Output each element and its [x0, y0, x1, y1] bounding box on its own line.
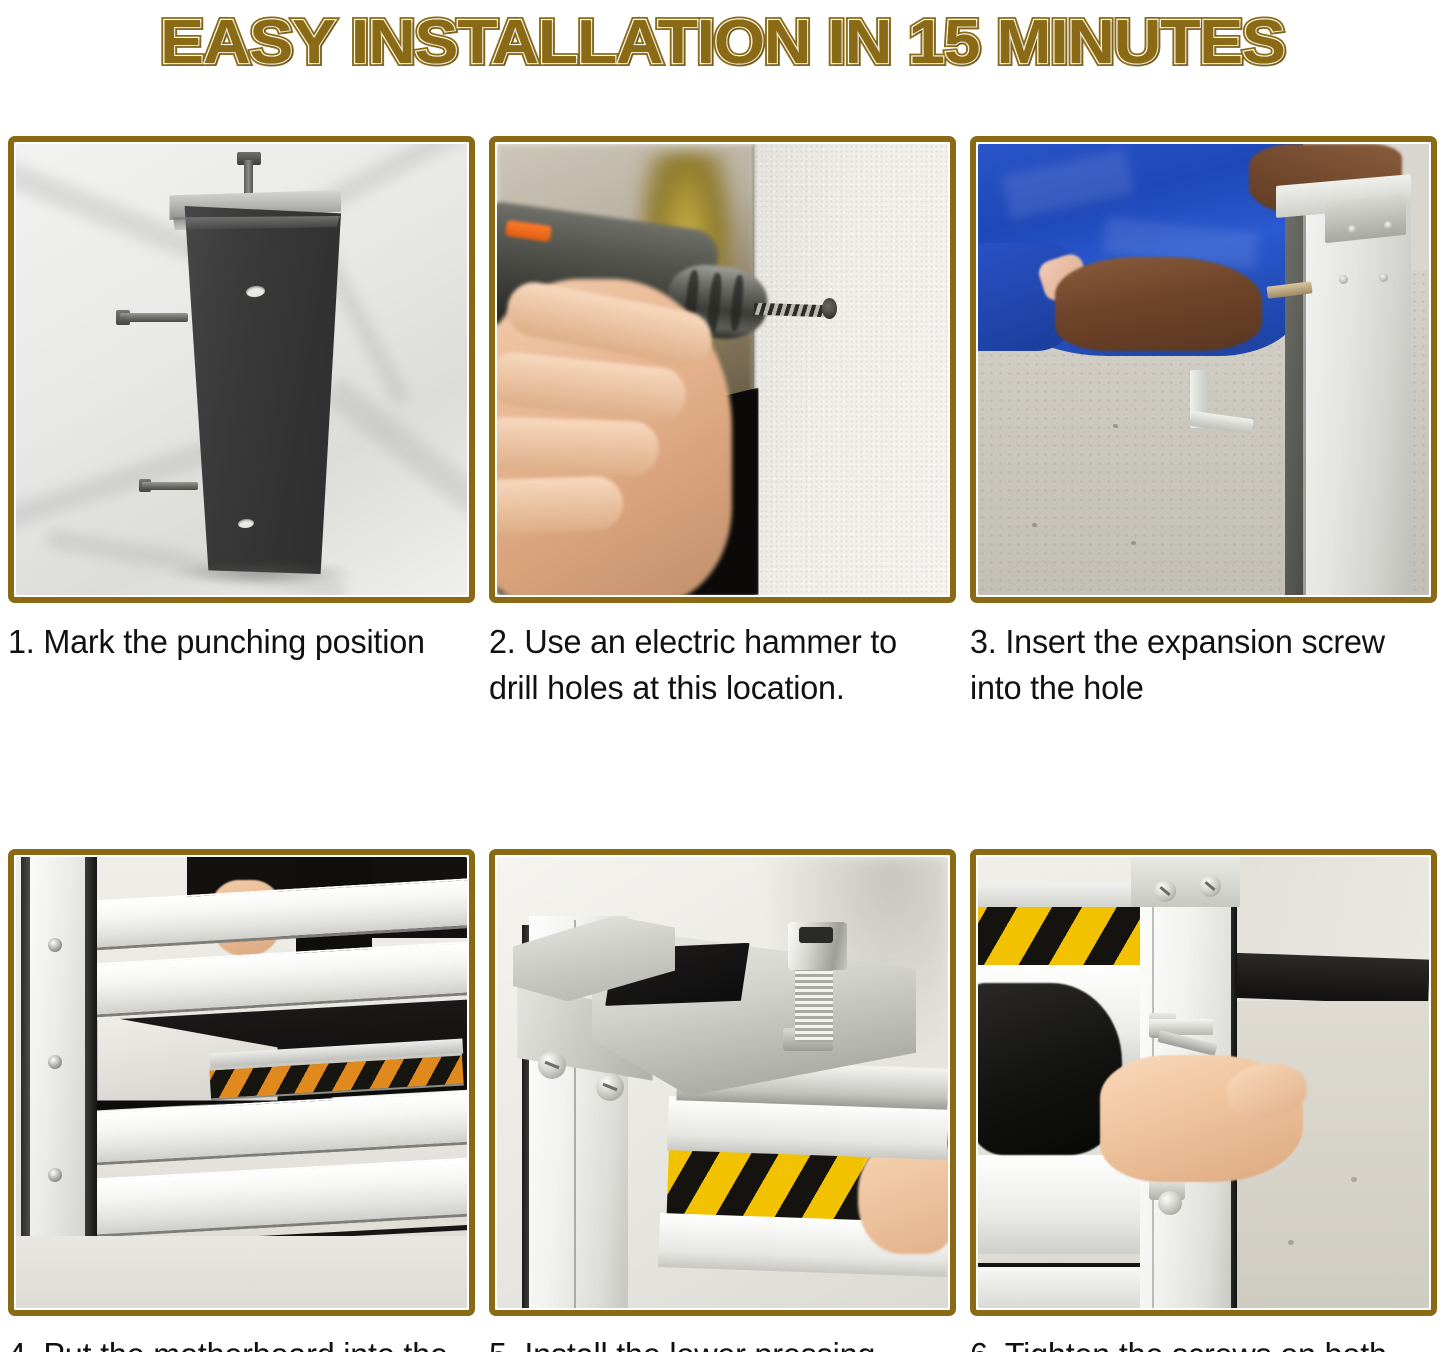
- step-card-5: 5. Install the lower pressing parts on b…: [489, 849, 956, 1352]
- aluminum-column: [1303, 189, 1411, 595]
- step-caption-2: 2. Use an electric hammer to drill holes…: [489, 619, 947, 711]
- photo-frame-6: [970, 849, 1437, 1316]
- column-screw: [48, 938, 62, 952]
- steps-row-top: 1. Mark the punching position: [8, 136, 1437, 711]
- photo-insert-expansion-screw: [978, 144, 1429, 595]
- step-caption-1: 1. Mark the punching position: [8, 619, 466, 665]
- drill-bit-tip: [822, 298, 837, 319]
- step-caption-4: 4. Put the motherboard into the card slo…: [8, 1332, 466, 1352]
- column-screw: [48, 1168, 62, 1182]
- anchor-bolt-upper: [120, 313, 188, 322]
- step-card-4: 4. Put the motherboard into the card slo…: [8, 849, 475, 1352]
- bracket-screw: [538, 1051, 566, 1079]
- column-screw: [48, 1055, 62, 1069]
- threaded-rod: [244, 160, 253, 198]
- page-title: EASY INSTALLATION IN 15 MINUTES: [160, 10, 1285, 76]
- wall-surface: [754, 144, 948, 595]
- column-screw-top-right: [1199, 875, 1221, 897]
- screw: [1379, 273, 1388, 282]
- column-screw-top-left: [1154, 880, 1176, 902]
- step-card-2: 2. Use an electric hammer to drill holes…: [489, 136, 956, 711]
- steps-row-bottom: 4. Put the motherboard into the card slo…: [8, 849, 1437, 1352]
- hex-bolt-socket: [799, 927, 833, 943]
- column-top-plate: [1131, 857, 1239, 907]
- floor: [16, 1236, 467, 1308]
- hazard-stripe-board: [978, 907, 1145, 970]
- step-card-1: 1. Mark the punching position: [8, 136, 475, 711]
- screw: [1339, 275, 1348, 284]
- step-card-6: 6. Tighten the screws on both sides of t…: [970, 849, 1437, 1352]
- floor-speck: [1032, 523, 1037, 527]
- screw: [1348, 225, 1357, 234]
- hex-bolt-thread: [795, 965, 833, 1042]
- column-body: [171, 206, 341, 574]
- baseboard: [1221, 953, 1429, 1005]
- step-caption-3: 3. Insert the expansion screw into the h…: [970, 619, 1428, 711]
- photo-frame-5: [489, 849, 956, 1316]
- barrier-board-bottom: [978, 1263, 1145, 1308]
- steps-grid: 1. Mark the punching position: [8, 136, 1437, 1352]
- installation-guide-page: EASY INSTALLATION IN 15 MINUTES: [0, 0, 1445, 1352]
- page-title-bar: EASY INSTALLATION IN 15 MINUTES: [0, 2, 1445, 84]
- column-ground-shadow: [166, 564, 356, 586]
- photo-frame-3: [970, 136, 1437, 603]
- photo-insert-boards-card-slot: [16, 857, 467, 1308]
- step-caption-5: 5. Install the lower pressing parts on b…: [489, 1332, 947, 1352]
- photo-tighten-column-screws: [978, 857, 1429, 1308]
- aluminum-column: [30, 857, 89, 1245]
- floor-speck: [1288, 1240, 1294, 1245]
- finger: [497, 416, 660, 476]
- floor-speck: [1113, 424, 1118, 428]
- photo-frame-2: [489, 136, 956, 603]
- column-screw-lower: [1158, 1191, 1182, 1215]
- photo-install-pressing-parts: [497, 857, 948, 1308]
- anchor-bolt-lower: [142, 482, 198, 490]
- step-caption-6: 6. Tighten the screws on both sides of t…: [970, 1332, 1428, 1352]
- floor-speck: [1351, 1177, 1357, 1182]
- photo-drill-holes: [497, 144, 948, 595]
- forearm: [1055, 257, 1262, 352]
- photo-frame-1: [8, 136, 475, 603]
- column-right-edge: [85, 857, 97, 1245]
- step-card-3: 3. Insert the expansion screw into the h…: [970, 136, 1437, 711]
- column-left-edge: [21, 857, 30, 1236]
- finger: [497, 475, 624, 534]
- photo-frame-4: [8, 849, 475, 1316]
- photo-mark-punching-position: [16, 144, 467, 595]
- screw: [1384, 221, 1393, 230]
